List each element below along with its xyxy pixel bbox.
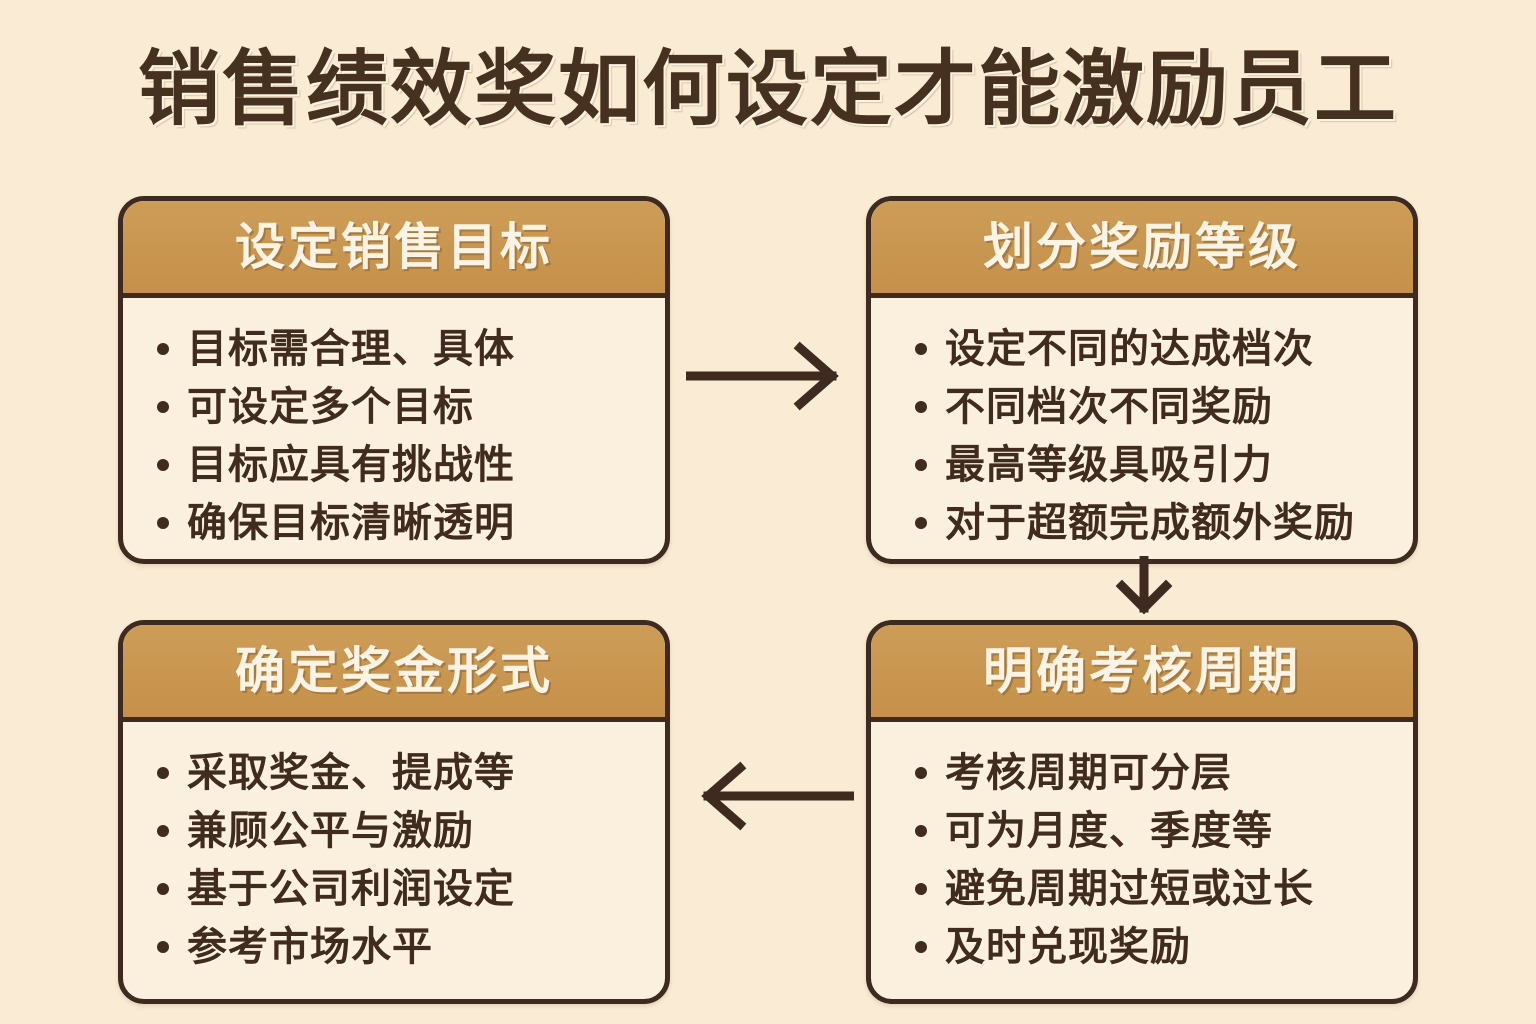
bullet-dot-icon bbox=[157, 883, 169, 895]
list-item-label: 目标应具有挑战性 bbox=[187, 436, 515, 494]
card-reward-tiers: 划分奖励等级 设定不同的达成档次 不同档次不同奖励 最高等级具吸引力 对 bbox=[866, 196, 1418, 564]
list-item: 不同档次不同奖励 bbox=[915, 378, 1399, 436]
bullet-dot-icon bbox=[915, 517, 927, 529]
bullet-dot-icon bbox=[157, 459, 169, 471]
list-item-label: 避免周期过短或过长 bbox=[945, 860, 1314, 918]
card-assessment-cycle: 明确考核周期 考核周期可分层 可为月度、季度等 避免周期过短或过长 及时 bbox=[866, 620, 1418, 1004]
list-item: 设定不同的达成档次 bbox=[915, 320, 1399, 378]
list-item-label: 对于超额完成额外奖励 bbox=[945, 494, 1355, 552]
card-body-bonus-form: 采取奖金、提成等 兼顾公平与激励 基于公司利润设定 参考市场水平 bbox=[123, 722, 665, 999]
card-set-sales-goal: 设定销售目标 目标需合理、具体 可设定多个目标 目标应具有挑战性 确保目 bbox=[118, 196, 670, 564]
list-item: 基于公司利润设定 bbox=[157, 860, 651, 918]
bullet-dot-icon bbox=[157, 941, 169, 953]
list-item: 目标需合理、具体 bbox=[157, 320, 651, 378]
bullet-dot-icon bbox=[915, 401, 927, 413]
card-header-bonus-form: 确定奖金形式 bbox=[123, 625, 665, 722]
list-item-label: 不同档次不同奖励 bbox=[945, 378, 1273, 436]
list-item: 可设定多个目标 bbox=[157, 378, 651, 436]
list-item: 考核周期可分层 bbox=[915, 744, 1399, 802]
bullet-dot-icon bbox=[915, 883, 927, 895]
bullet-dot-icon bbox=[915, 941, 927, 953]
bullet-dot-icon bbox=[915, 767, 927, 779]
card-header-title: 设定销售目标 bbox=[235, 219, 553, 275]
card-body-reward-tiers: 设定不同的达成档次 不同档次不同奖励 最高等级具吸引力 对于超额完成额外奖励 bbox=[871, 298, 1413, 559]
bullet-dot-icon bbox=[915, 459, 927, 471]
list-item-label: 兼顾公平与激励 bbox=[187, 802, 474, 860]
list-item: 目标应具有挑战性 bbox=[157, 436, 651, 494]
card-body-assessment-cycle: 考核周期可分层 可为月度、季度等 避免周期过短或过长 及时兑现奖励 bbox=[871, 722, 1413, 999]
list-item-label: 最高等级具吸引力 bbox=[945, 436, 1273, 494]
list-item-label: 基于公司利润设定 bbox=[187, 860, 515, 918]
list-item-label: 考核周期可分层 bbox=[945, 744, 1232, 802]
card-header-assessment-cycle: 明确考核周期 bbox=[871, 625, 1413, 722]
list-item: 避免周期过短或过长 bbox=[915, 860, 1399, 918]
bullet-dot-icon bbox=[157, 343, 169, 355]
card-header-title: 确定奖金形式 bbox=[235, 643, 553, 699]
list-item: 可为月度、季度等 bbox=[915, 802, 1399, 860]
bullet-dot-icon bbox=[157, 767, 169, 779]
arrow-right-icon bbox=[686, 340, 846, 412]
list-item: 及时兑现奖励 bbox=[915, 918, 1399, 976]
arrow-down-icon bbox=[1112, 556, 1176, 618]
bullet-list: 设定不同的达成档次 不同档次不同奖励 最高等级具吸引力 对于超额完成额外奖励 bbox=[915, 320, 1399, 552]
card-body-set-sales-goal: 目标需合理、具体 可设定多个目标 目标应具有挑战性 确保目标清晰透明 bbox=[123, 298, 665, 559]
list-item-label: 目标需合理、具体 bbox=[187, 320, 515, 378]
list-item: 采取奖金、提成等 bbox=[157, 744, 651, 802]
list-item: 兼顾公平与激励 bbox=[157, 802, 651, 860]
bullet-dot-icon bbox=[915, 343, 927, 355]
list-item-label: 可设定多个目标 bbox=[187, 378, 474, 436]
bullet-dot-icon bbox=[157, 825, 169, 837]
card-header-set-sales-goal: 设定销售目标 bbox=[123, 201, 665, 298]
list-item-label: 采取奖金、提成等 bbox=[187, 744, 515, 802]
card-header-title: 划分奖励等级 bbox=[983, 219, 1301, 275]
card-header-reward-tiers: 划分奖励等级 bbox=[871, 201, 1413, 298]
card-header-title: 明确考核周期 bbox=[983, 643, 1301, 699]
list-item: 最高等级具吸引力 bbox=[915, 436, 1399, 494]
list-item-label: 设定不同的达成档次 bbox=[945, 320, 1314, 378]
bullet-dot-icon bbox=[915, 825, 927, 837]
card-bonus-form: 确定奖金形式 采取奖金、提成等 兼顾公平与激励 基于公司利润设定 参考市 bbox=[118, 620, 670, 1004]
list-item-label: 可为月度、季度等 bbox=[945, 802, 1273, 860]
bullet-list: 采取奖金、提成等 兼顾公平与激励 基于公司利润设定 参考市场水平 bbox=[157, 744, 651, 976]
bullet-list: 目标需合理、具体 可设定多个目标 目标应具有挑战性 确保目标清晰透明 bbox=[157, 320, 651, 552]
bullet-dot-icon bbox=[157, 401, 169, 413]
bullet-dot-icon bbox=[157, 517, 169, 529]
page-title: 销售绩效奖如何设定才能激励员工 bbox=[0, 40, 1536, 140]
list-item: 对于超额完成额外奖励 bbox=[915, 494, 1399, 552]
list-item-label: 及时兑现奖励 bbox=[945, 918, 1191, 976]
infographic-page: 销售绩效奖如何设定才能激励员工 设定销售目标 目标需合理、具体 可设定多个目标 … bbox=[0, 0, 1536, 1024]
list-item: 确保目标清晰透明 bbox=[157, 494, 651, 552]
list-item: 参考市场水平 bbox=[157, 918, 651, 976]
bullet-list: 考核周期可分层 可为月度、季度等 避免周期过短或过长 及时兑现奖励 bbox=[915, 744, 1399, 976]
list-item-label: 确保目标清晰透明 bbox=[187, 494, 515, 552]
list-item-label: 参考市场水平 bbox=[187, 918, 433, 976]
arrow-left-icon bbox=[694, 760, 854, 832]
